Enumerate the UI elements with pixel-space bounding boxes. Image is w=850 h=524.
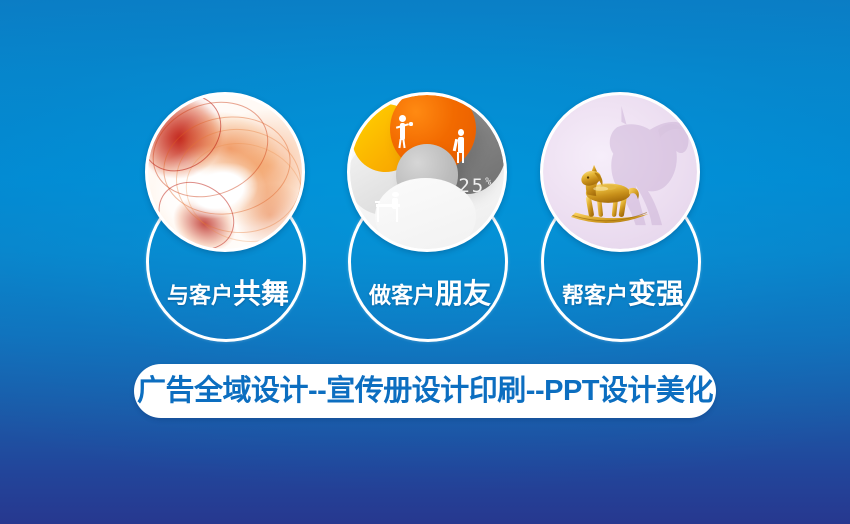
services-banner-text: 广告全域设计--宣传册设计印刷--PPT设计美化 xyxy=(137,377,713,406)
feature-card-strengthen-client[interactable]: 帮客户变强 xyxy=(540,92,706,342)
feature-circle-group: 与客户共舞 xyxy=(0,0,850,340)
feature-label-1-accent: 共舞 xyxy=(233,278,289,309)
stat-value: 25 xyxy=(458,175,485,197)
feature-label-2-accent: 朋友 xyxy=(435,278,491,309)
feature-label-2-prefix: 做客户 xyxy=(369,283,435,308)
feature-image-circle-1 xyxy=(145,92,305,252)
feature-label-1-prefix: 与客户 xyxy=(167,283,233,308)
poster-canvas: 与客户共舞 xyxy=(0,0,850,524)
golden-rocking-horse-art xyxy=(543,95,697,249)
feature-image-circle-3 xyxy=(540,92,700,252)
person-presenter-icon xyxy=(393,115,418,149)
feature-label-2: 做客户朋友 xyxy=(347,280,513,308)
orange-smoke-swirl-art xyxy=(148,95,302,249)
stat-unit: % xyxy=(485,177,493,188)
feature-label-3-prefix: 帮客户 xyxy=(562,283,628,308)
services-banner-pill[interactable]: 广告全域设计--宣传册设计印刷--PPT设计美化 xyxy=(134,364,716,418)
feature-card-dance-with-client[interactable]: 与客户共舞 xyxy=(145,92,311,342)
feature-label-3-accent: 变强 xyxy=(628,278,684,309)
infographic-circles-art: 25% xyxy=(350,95,504,249)
person-at-desk-icon xyxy=(375,190,409,224)
feature-label-3: 帮客户变强 xyxy=(540,280,706,308)
feature-label-1: 与客户共舞 xyxy=(145,280,311,308)
feature-image-circle-2: 25% xyxy=(347,92,507,252)
stat-percentage: 25% xyxy=(458,175,493,197)
person-standing-icon xyxy=(452,129,472,163)
feature-card-friend-of-client[interactable]: 25% 做客户朋友 xyxy=(347,92,513,342)
golden-rocking-horse-icon xyxy=(565,163,654,231)
